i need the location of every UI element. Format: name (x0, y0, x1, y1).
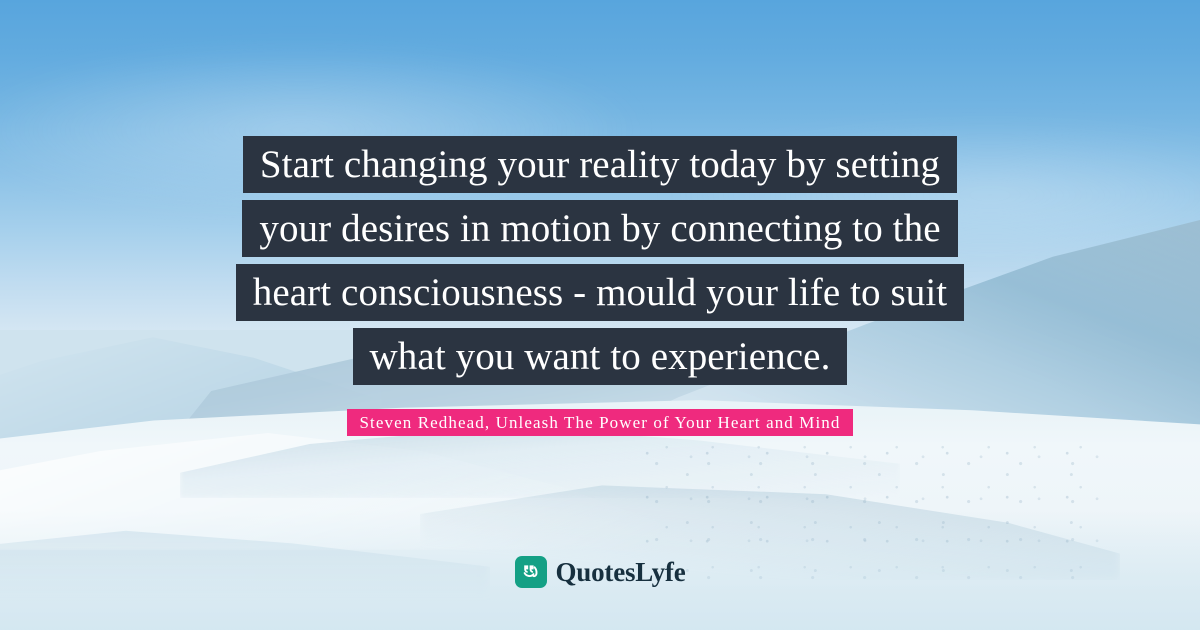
quote-line: heart consciousness - mould your life to… (236, 264, 964, 321)
site-logo[interactable]: QuotesLyfe (0, 556, 1200, 588)
quote-line: what you want to experience. (353, 328, 848, 385)
quote-card: Start changing your reality today by set… (0, 0, 1200, 630)
quote-line: Start changing your reality today by set… (243, 136, 957, 193)
quote-text: Start changing your reality today by set… (0, 136, 1200, 392)
attribution-row: Steven Redhead, Unleash The Power of You… (0, 409, 1200, 436)
site-logo-text: QuotesLyfe (556, 559, 686, 586)
quote-line: your desires in motion by connecting to … (242, 200, 957, 257)
attribution-text: Steven Redhead, Unleash The Power of You… (347, 409, 852, 436)
quote-smiley-icon (515, 556, 547, 588)
